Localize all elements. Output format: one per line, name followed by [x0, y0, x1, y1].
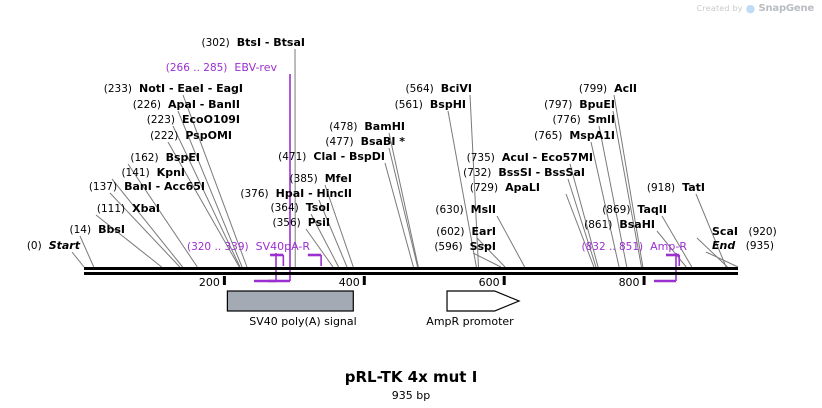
site-position: (797) — [544, 99, 572, 111]
restriction-site-label[interactable]: (918) TatI — [0, 182, 705, 194]
site-enzyme-name: BsaHI — [619, 218, 655, 231]
axis-tick — [223, 276, 226, 285]
site-enzyme-name: TaqII — [637, 203, 667, 216]
backbone-group — [84, 267, 738, 275]
plasmid-length: 935 bp — [0, 389, 822, 402]
axis-tick-label: 400 — [338, 276, 360, 289]
axis-tick-label: 600 — [478, 276, 500, 289]
segments-group — [227, 291, 519, 311]
restriction-site-label[interactable]: (861) BsaHI — [0, 219, 655, 231]
annotated-segment[interactable] — [447, 291, 519, 311]
restriction-site-label[interactable]: (869) TaqII — [0, 204, 667, 216]
restriction-site-label[interactable]: (732) BssSI - BssSaI — [0, 167, 585, 179]
restriction-site-label[interactable]: (799) AclI — [0, 83, 637, 95]
annotated-segment[interactable] — [227, 291, 353, 311]
site-position: (918) — [647, 182, 675, 194]
site-enzyme-name: ScaI — [712, 225, 738, 238]
axis-tick-label: 800 — [618, 276, 640, 289]
terminal-label-end: End (935) — [712, 240, 774, 252]
feature-label[interactable]: (832 .. 851) Amp-R — [0, 241, 687, 253]
site-enzyme-name: MspA1I — [569, 129, 615, 142]
restriction-site-label[interactable]: ScaI (920) — [712, 226, 777, 238]
terminal-lead-line — [706, 252, 738, 267]
feature-range: (266 .. 285) — [166, 62, 228, 74]
site-position: (920) — [748, 226, 776, 238]
terminal-position: (935) — [746, 240, 774, 252]
site-enzyme-name: BssSI — [498, 166, 532, 179]
site-enzyme-name: BpuEI — [579, 98, 615, 111]
terminal-name: End — [712, 239, 735, 252]
site-position: (861) — [584, 219, 612, 231]
feature-label[interactable]: (266 .. 285) EBV-rev — [0, 62, 277, 74]
site-enzyme-name: TatI — [682, 181, 705, 194]
site-position: (732) — [463, 167, 491, 179]
site-name-separator: - — [529, 151, 541, 164]
site-lead-line — [473, 253, 501, 267]
site-name-separator: - — [261, 36, 273, 49]
site-name-separator: - — [532, 166, 544, 179]
site-enzyme-name: BssSaI — [544, 166, 585, 179]
site-position: (765) — [534, 130, 562, 142]
restriction-site-label[interactable]: (797) BpuEI — [0, 99, 615, 111]
site-position: (799) — [579, 83, 607, 95]
axis-tick — [503, 276, 506, 285]
site-enzyme-name: SmlI — [588, 113, 615, 126]
site-position: (302) — [202, 37, 230, 49]
feature-name: Amp-R — [650, 240, 687, 253]
site-enzyme-name: BtsI — [237, 36, 261, 49]
axis-tick — [643, 276, 646, 285]
backbone-line — [84, 267, 738, 270]
plasmid-title: pRL-TK 4x mut I — [0, 368, 822, 386]
feature-name: EBV-rev — [234, 61, 277, 74]
restriction-site-label[interactable]: (735) AcuI - Eco57MI — [0, 152, 593, 164]
site-enzyme-name: BtsaI — [273, 36, 305, 49]
terminal-lead-line — [72, 252, 84, 267]
axis-tick — [363, 276, 366, 285]
segment-label: AmpR promoter — [370, 315, 570, 328]
site-position: (869) — [602, 204, 630, 216]
site-enzyme-name: AclI — [614, 82, 637, 95]
feature-range: (832 .. 851) — [582, 241, 644, 253]
site-position: (776) — [553, 114, 581, 126]
restriction-site-label[interactable]: (776) SmlI — [0, 114, 615, 126]
site-position: (735) — [467, 152, 495, 164]
restriction-site-label[interactable]: (302) BtsI - BtsaI — [0, 37, 305, 49]
backbone-line-shadow — [84, 272, 738, 275]
axis-tick-label: 200 — [198, 276, 220, 289]
site-enzyme-name: Eco57MI — [541, 151, 593, 164]
restriction-site-label[interactable]: (765) MspA1I — [0, 130, 615, 142]
site-enzyme-name: AcuI — [502, 151, 529, 164]
